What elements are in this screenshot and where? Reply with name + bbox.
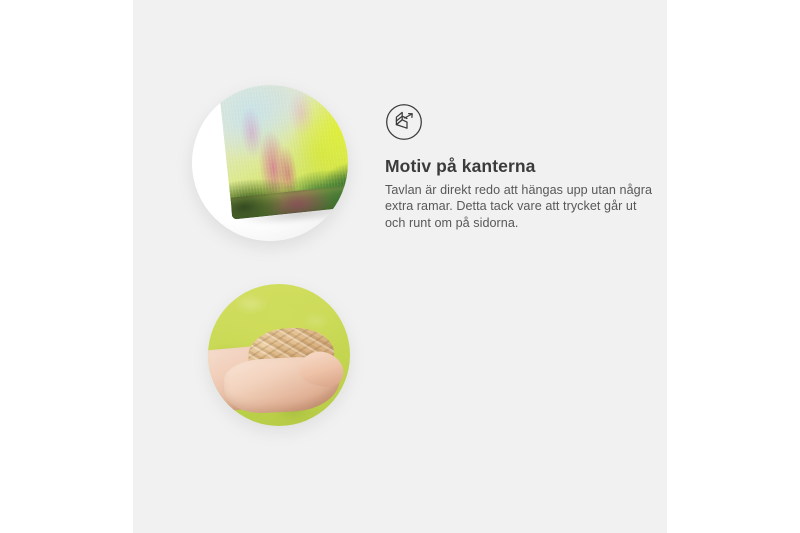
- content-panel: Motiv på kanterna Tavlan är direkt redo …: [133, 0, 667, 533]
- canvas-front-face: [219, 85, 348, 204]
- feature-text-motif-on-edges: Motiv på kanterna Tavlan är direkt redo …: [385, 103, 655, 231]
- hands-holding-wood-chips-photo: [208, 284, 350, 426]
- feature-title: Motiv på kanterna: [385, 155, 655, 177]
- feature-block-ecological-product: Ekologisk produkt Vi använder endast mat…: [133, 266, 667, 533]
- feature-block-motif-on-edges: Motiv på kanterna Tavlan är direkt redo …: [133, 0, 667, 266]
- feature-description: Tavlan är direkt redo att hängas upp uta…: [385, 182, 655, 231]
- canvas-block: [219, 85, 348, 235]
- canvas-print-corner-photo: [192, 85, 348, 241]
- canvas-wrapped-edge-icon: [385, 103, 423, 141]
- product-feature-infographic: Motiv på kanterna Tavlan är direkt redo …: [0, 0, 800, 533]
